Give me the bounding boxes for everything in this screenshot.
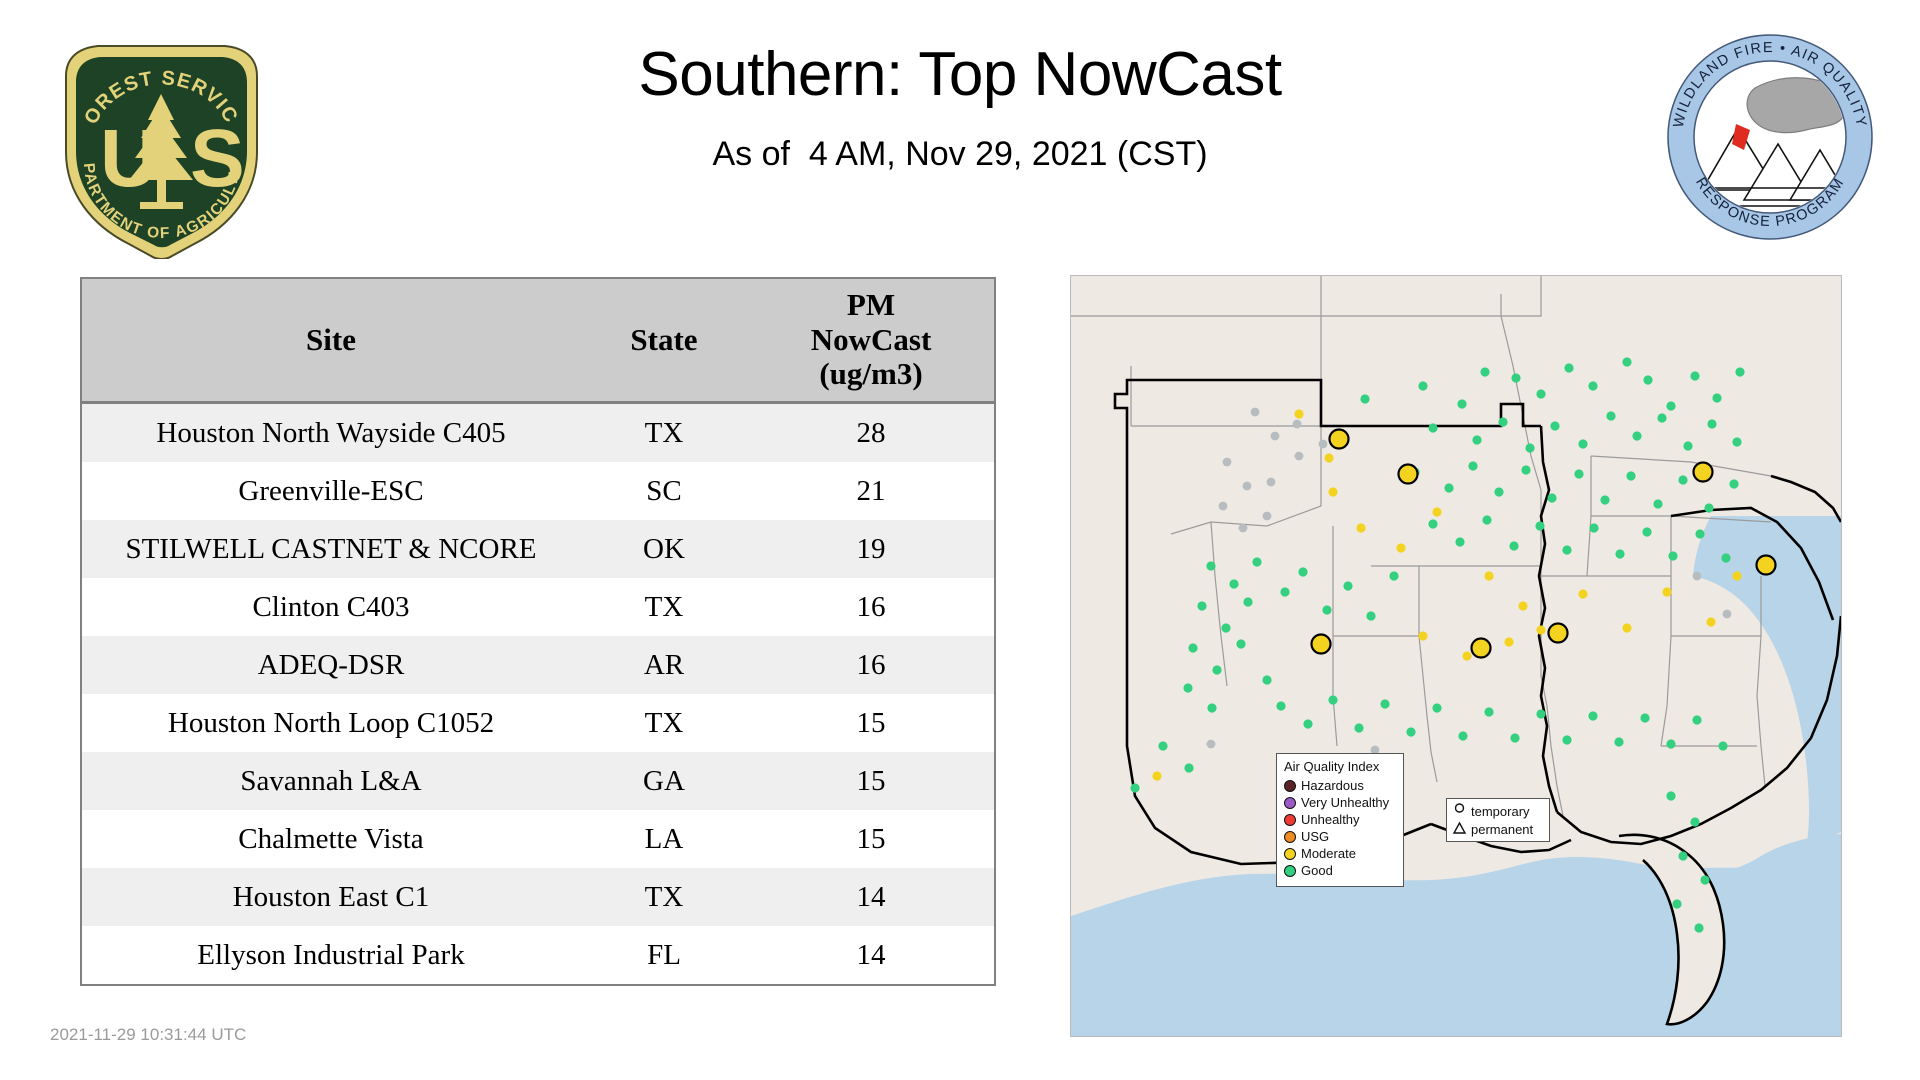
station-dot-highlighted[interactable]: [1472, 639, 1491, 658]
station-dot-good[interactable]: [1482, 515, 1491, 524]
cell-state: FL: [580, 926, 748, 984]
cell-state: GA: [580, 752, 748, 810]
station-dot-good[interactable]: [1322, 605, 1331, 614]
aqi-legend-swatch: [1284, 831, 1296, 843]
station-dot-moderate[interactable]: [1152, 771, 1161, 780]
station-dot-moderate[interactable]: [1324, 453, 1333, 462]
cell-pm-nowcast: 28: [748, 403, 994, 463]
usfs-letter-s: S: [190, 113, 245, 204]
station-dot-good[interactable]: [1622, 357, 1631, 366]
table-row[interactable]: Chalmette VistaLA15: [82, 810, 994, 868]
aqi-legend-row: Unhealthy: [1284, 811, 1396, 828]
station-dot-nodata[interactable]: [1223, 458, 1232, 467]
aqi-legend-row: Very Unhealthy: [1284, 794, 1396, 811]
station-dot-moderate[interactable]: [1484, 571, 1493, 580]
station-dot-good[interactable]: [1615, 549, 1624, 558]
cell-state: TX: [580, 403, 748, 463]
station-dot-good[interactable]: [1707, 419, 1716, 428]
symbol-legend-row-temporary: temporary: [1452, 802, 1544, 820]
table-row[interactable]: Clinton C403TX16: [82, 578, 994, 636]
station-dot-good[interactable]: [1521, 465, 1530, 474]
aqi-legend-swatch: [1284, 865, 1296, 877]
station-dot-moderate[interactable]: [1294, 409, 1303, 418]
station-dot-moderate[interactable]: [1462, 651, 1471, 660]
station-dot-good[interactable]: [1243, 597, 1252, 606]
station-dot-good[interactable]: [1511, 373, 1520, 382]
station-dot-moderate[interactable]: [1536, 625, 1545, 634]
station-dot-good[interactable]: [1444, 483, 1453, 492]
station-dot-good[interactable]: [1668, 551, 1677, 560]
station-dot-good[interactable]: [1536, 709, 1545, 718]
station-dot-good[interactable]: [1354, 723, 1363, 732]
cell-pm-nowcast: 14: [748, 926, 994, 984]
station-dot-highlighted[interactable]: [1757, 556, 1776, 575]
aqi-legend-swatch: [1284, 780, 1296, 792]
symbol-legend: temporary permanent: [1446, 798, 1550, 842]
cell-state: SC: [580, 462, 748, 520]
station-dot-good[interactable]: [1510, 733, 1519, 742]
column-header-pm-line3: (ug/m3): [748, 357, 994, 392]
station-dot-good[interactable]: [1366, 611, 1375, 620]
station-dot-nodata[interactable]: [1293, 420, 1302, 429]
cell-site: Clinton C403: [82, 578, 580, 636]
aqi-legend-title: Air Quality Index: [1284, 759, 1396, 774]
station-dot-good[interactable]: [1525, 443, 1534, 452]
station-dot-good[interactable]: [1600, 495, 1609, 504]
station-dot-good[interactable]: [1588, 711, 1597, 720]
cell-site: ADEQ-DSR: [82, 636, 580, 694]
station-dot-good[interactable]: [1672, 899, 1681, 908]
cell-pm-nowcast: 16: [748, 578, 994, 636]
table-row[interactable]: Houston North Wayside C405TX28: [82, 403, 994, 463]
station-dot-good[interactable]: [1458, 731, 1467, 740]
station-dot-good[interactable]: [1666, 401, 1675, 410]
aqi-legend-label: USG: [1301, 830, 1329, 843]
cell-state: OK: [580, 520, 748, 578]
station-dot-good[interactable]: [1547, 493, 1556, 502]
station-dot-good[interactable]: [1643, 375, 1652, 384]
symbol-legend-label-permanent: permanent: [1471, 823, 1533, 836]
station-dot-good[interactable]: [1564, 363, 1573, 372]
station-dot-good[interactable]: [1494, 487, 1503, 496]
table-row[interactable]: ADEQ-DSRAR16: [82, 636, 994, 694]
station-dot-good[interactable]: [1480, 367, 1489, 376]
station-dot-good[interactable]: [1692, 715, 1701, 724]
station-dot-good[interactable]: [1562, 545, 1571, 554]
aqi-legend-swatch: [1284, 848, 1296, 860]
station-dot-nodata[interactable]: [1207, 740, 1216, 749]
station-dot-good[interactable]: [1328, 695, 1337, 704]
station-dot-nodata[interactable]: [1271, 432, 1280, 441]
page-subtitle: As of 4 AM, Nov 29, 2021 (CST): [290, 135, 1630, 174]
table-row[interactable]: Savannah L&AGA15: [82, 752, 994, 810]
station-dot-good[interactable]: [1360, 394, 1369, 403]
station-dot-good[interactable]: [1509, 541, 1518, 550]
station-dot-highlighted[interactable]: [1399, 465, 1418, 484]
aqi-legend-label: Unhealthy: [1301, 813, 1360, 826]
cell-site: Houston North Loop C1052: [82, 694, 580, 752]
station-dot-moderate[interactable]: [1622, 623, 1631, 632]
station-dot-good[interactable]: [1550, 421, 1559, 430]
station-dot-good[interactable]: [1380, 699, 1389, 708]
station-dot-good[interactable]: [1343, 581, 1352, 590]
aqi-legend-row: Moderate: [1284, 845, 1396, 862]
station-dot-good[interactable]: [1700, 875, 1709, 884]
station-dot-good[interactable]: [1212, 665, 1221, 674]
symbol-legend-label-temporary: temporary: [1471, 805, 1530, 818]
station-dot-good[interactable]: [1158, 741, 1167, 750]
station-dot-good[interactable]: [1280, 587, 1289, 596]
station-dot-good[interactable]: [1632, 431, 1641, 440]
station-dot-good[interactable]: [1694, 923, 1703, 932]
column-header-pm-line2: NowCast: [748, 323, 994, 358]
station-dot-moderate[interactable]: [1662, 587, 1671, 596]
page-header: FOREST SERVICE DEPARTMENT OF AGRICULTURE…: [0, 0, 1920, 265]
station-dot-good[interactable]: [1484, 707, 1493, 716]
station-dot-good[interactable]: [1457, 399, 1466, 408]
station-dot-good[interactable]: [1718, 741, 1727, 750]
station-dot-good[interactable]: [1712, 393, 1721, 402]
aqi-legend-label: Very Unhealthy: [1301, 796, 1389, 809]
station-dot-good[interactable]: [1704, 503, 1713, 512]
station-dot-good[interactable]: [1562, 735, 1571, 744]
station-dot-moderate[interactable]: [1328, 487, 1337, 496]
station-dot-good[interactable]: [1666, 791, 1675, 800]
station-dot-good[interactable]: [1589, 523, 1598, 532]
station-dot-good[interactable]: [1406, 727, 1415, 736]
cell-pm-nowcast: 19: [748, 520, 994, 578]
station-dot-good[interactable]: [1197, 601, 1206, 610]
station-dot-highlighted[interactable]: [1549, 624, 1568, 643]
cell-site: Ellyson Industrial Park: [82, 926, 580, 984]
table-header-row: Site State PM NowCast (ug/m3): [82, 279, 994, 403]
station-dot-good[interactable]: [1690, 371, 1699, 380]
station-dot-good[interactable]: [1657, 413, 1666, 422]
aqi-legend-swatch: [1284, 797, 1296, 809]
cell-state: LA: [580, 810, 748, 868]
station-dot-good[interactable]: [1303, 719, 1312, 728]
station-dot-good[interactable]: [1574, 469, 1583, 478]
station-dot-nodata[interactable]: [1319, 440, 1328, 449]
column-header-site[interactable]: Site: [82, 279, 580, 403]
aqi-legend-label: Hazardous: [1301, 779, 1364, 792]
table-row[interactable]: Houston North Loop C1052TX15: [82, 694, 994, 752]
station-dot-good[interactable]: [1428, 519, 1437, 528]
station-dot-good[interactable]: [1432, 703, 1441, 712]
aqi-legend: Air Quality Index HazardousVery Unhealth…: [1276, 753, 1404, 887]
station-dot-good[interactable]: [1690, 817, 1699, 826]
table-body: Houston North Wayside C405TX28Greenville…: [82, 403, 994, 985]
aqi-legend-row: Good: [1284, 862, 1396, 879]
station-dot-nodata[interactable]: [1693, 572, 1702, 581]
station-dot-good[interactable]: [1695, 529, 1704, 538]
column-header-pm-nowcast[interactable]: PM NowCast (ug/m3): [748, 279, 994, 403]
station-dot-good[interactable]: [1678, 475, 1687, 484]
station-dot-good[interactable]: [1221, 623, 1230, 632]
wfaqrp-logo: WILDLAND FIRE • AIR QUALITY RESPONSE PRO…: [1660, 30, 1880, 245]
station-dot-nodata[interactable]: [1723, 610, 1732, 619]
aqi-legend-row: Hazardous: [1284, 777, 1396, 794]
table-row[interactable]: Ellyson Industrial ParkFL14: [82, 926, 994, 984]
station-dot-good[interactable]: [1207, 703, 1216, 712]
station-dot-nodata[interactable]: [1267, 478, 1276, 487]
cell-state: AR: [580, 636, 748, 694]
aqi-map-panel[interactable]: Air Quality Index HazardousVery Unhealth…: [1070, 275, 1842, 1037]
aqi-legend-swatch: [1284, 814, 1296, 826]
station-dot-moderate[interactable]: [1504, 637, 1513, 646]
station-dot-good[interactable]: [1455, 537, 1464, 546]
page-title: Southern: Top NowCast: [290, 40, 1630, 109]
station-dot-good[interactable]: [1130, 783, 1139, 792]
station-dot-good[interactable]: [1418, 381, 1427, 390]
cell-site: Savannah L&A: [82, 752, 580, 810]
aqi-legend-items: HazardousVery UnhealthyUnhealthyUSGModer…: [1284, 777, 1396, 879]
station-dot-moderate[interactable]: [1418, 631, 1427, 640]
station-dot-moderate[interactable]: [1578, 589, 1587, 598]
station-dot-good[interactable]: [1683, 441, 1692, 450]
station-dot-good[interactable]: [1606, 411, 1615, 420]
station-dot-good[interactable]: [1642, 527, 1651, 536]
nowcast-table: Site State PM NowCast (ug/m3) Houston No…: [82, 279, 994, 984]
station-dot-highlighted[interactable]: [1694, 463, 1713, 482]
station-dot-good[interactable]: [1536, 389, 1545, 398]
station-dot-good[interactable]: [1666, 739, 1675, 748]
station-dot-moderate[interactable]: [1706, 617, 1715, 626]
symbol-legend-row-permanent: permanent: [1452, 820, 1544, 838]
cell-pm-nowcast: 14: [748, 868, 994, 926]
station-dot-good[interactable]: [1276, 701, 1285, 710]
cell-pm-nowcast: 15: [748, 752, 994, 810]
map-canvas[interactable]: [1071, 276, 1841, 1036]
station-dot-highlighted[interactable]: [1312, 635, 1331, 654]
station-dot-good[interactable]: [1721, 553, 1730, 562]
station-dot-good[interactable]: [1389, 571, 1398, 580]
generated-timestamp: 2021-11-29 10:31:44 UTC: [50, 1025, 246, 1045]
cell-site: Houston East C1: [82, 868, 580, 926]
nowcast-table-panel: Site State PM NowCast (ug/m3) Houston No…: [80, 277, 996, 986]
station-dot-good[interactable]: [1252, 557, 1261, 566]
station-dot-moderate[interactable]: [1356, 523, 1365, 532]
station-dot-good[interactable]: [1262, 675, 1271, 684]
table-header: Site State PM NowCast (ug/m3): [82, 279, 994, 403]
station-dot-good[interactable]: [1653, 499, 1662, 508]
station-dot-good[interactable]: [1298, 567, 1307, 576]
station-dot-good[interactable]: [1498, 417, 1507, 426]
column-header-state[interactable]: State: [580, 279, 748, 403]
station-dot-nodata[interactable]: [1295, 452, 1304, 461]
station-dot-moderate[interactable]: [1732, 571, 1741, 580]
cell-site: Greenville-ESC: [82, 462, 580, 520]
station-dot-good[interactable]: [1535, 521, 1544, 530]
cell-state: TX: [580, 868, 748, 926]
cell-site: Houston North Wayside C405: [82, 403, 580, 463]
table-row[interactable]: Houston East C1TX14: [82, 868, 994, 926]
cell-site: Chalmette Vista: [82, 810, 580, 868]
station-dot-good[interactable]: [1735, 367, 1744, 376]
cell-site: STILWELL CASTNET & NCORE: [82, 520, 580, 578]
station-dot-highlighted[interactable]: [1330, 430, 1349, 449]
table-row[interactable]: STILWELL CASTNET & NCOREOK19: [82, 520, 994, 578]
aqi-legend-row: USG: [1284, 828, 1396, 845]
aqi-legend-label: Good: [1301, 864, 1333, 877]
station-dot-moderate[interactable]: [1396, 543, 1405, 552]
title-block: Southern: Top NowCast As of 4 AM, Nov 29…: [290, 40, 1630, 174]
station-dot-moderate[interactable]: [1518, 601, 1527, 610]
station-dot-nodata[interactable]: [1239, 524, 1248, 533]
station-dot-good[interactable]: [1614, 737, 1623, 746]
station-dot-good[interactable]: [1236, 639, 1245, 648]
cell-pm-nowcast: 16: [748, 636, 994, 694]
station-dot-moderate[interactable]: [1432, 507, 1441, 516]
station-dot-good[interactable]: [1732, 437, 1741, 446]
cell-pm-nowcast: 21: [748, 462, 994, 520]
triangle-icon: [1452, 821, 1467, 837]
usfs-shield-logo: FOREST SERVICE DEPARTMENT OF AGRICULTURE…: [54, 34, 269, 259]
circle-icon: [1452, 803, 1467, 819]
station-dot-good[interactable]: [1678, 851, 1687, 860]
station-dot-good[interactable]: [1428, 423, 1437, 432]
cell-pm-nowcast: 15: [748, 694, 994, 752]
station-dot-good[interactable]: [1588, 381, 1597, 390]
station-dot-good[interactable]: [1578, 439, 1587, 448]
station-dot-nodata[interactable]: [1251, 408, 1260, 417]
station-dot-good[interactable]: [1640, 713, 1649, 722]
cell-state: TX: [580, 578, 748, 636]
station-dot-nodata[interactable]: [1243, 482, 1252, 491]
station-dot-good[interactable]: [1184, 763, 1193, 772]
station-dot-good[interactable]: [1229, 579, 1238, 588]
station-dot-good[interactable]: [1472, 435, 1481, 444]
station-dot-good[interactable]: [1188, 643, 1197, 652]
cell-pm-nowcast: 15: [748, 810, 994, 868]
aqi-legend-label: Moderate: [1301, 847, 1356, 860]
station-dot-nodata[interactable]: [1263, 512, 1272, 521]
station-dot-good[interactable]: [1468, 461, 1477, 470]
cell-state: TX: [580, 694, 748, 752]
station-dot-good[interactable]: [1206, 561, 1215, 570]
station-dot-good[interactable]: [1626, 471, 1635, 480]
table-row[interactable]: Greenville-ESCSC21: [82, 462, 994, 520]
column-header-pm-line1: PM: [748, 288, 994, 323]
station-dot-good[interactable]: [1729, 479, 1738, 488]
station-dot-good[interactable]: [1183, 683, 1192, 692]
station-dot-nodata[interactable]: [1219, 502, 1228, 511]
